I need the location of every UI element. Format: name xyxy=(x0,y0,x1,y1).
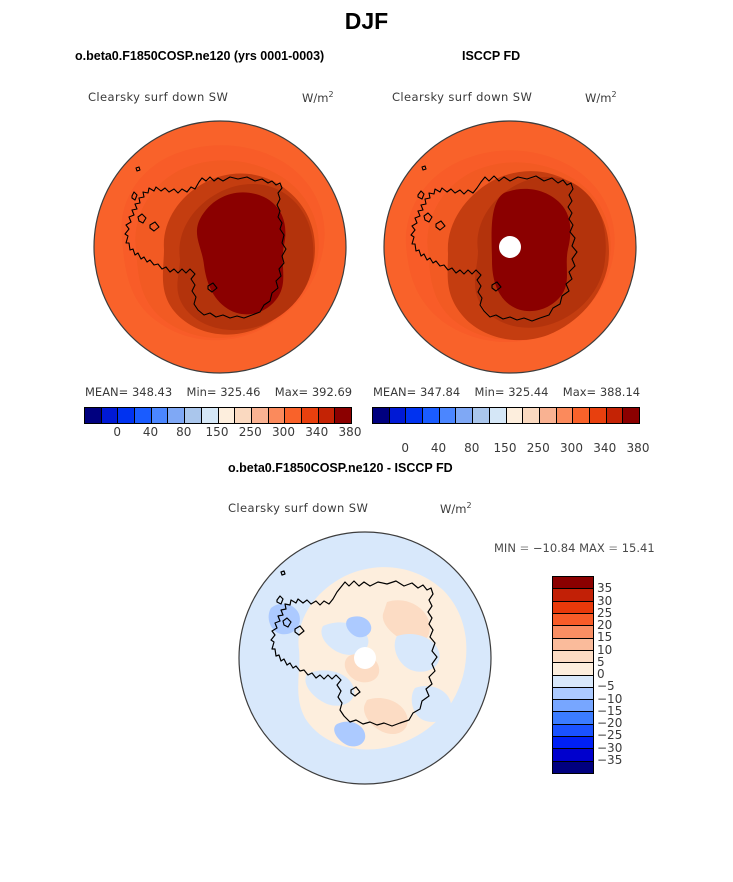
left-mean-label: MEAN= xyxy=(85,385,128,399)
diff-colorbar-band-2 xyxy=(553,602,593,614)
right-stats: MEAN= 347.84 Min= 325.44 Max= 388.14 xyxy=(373,385,640,399)
colorbar-band-1 xyxy=(102,408,119,423)
colorbar-tick-380: 380 xyxy=(339,425,362,439)
diff-colorbar-band-8 xyxy=(553,676,593,688)
diff-colorbar-band-13 xyxy=(553,737,593,749)
colorbar-tick-250: 250 xyxy=(239,425,262,439)
right-units-label: W/m2 xyxy=(585,90,617,105)
difference-units-label: W/m2 xyxy=(440,501,472,516)
diff-colorbar-band-4 xyxy=(553,626,593,638)
colorbar-band-3 xyxy=(423,408,440,423)
colorbar-tick-150: 150 xyxy=(494,441,517,455)
right-min-value: 325.44 xyxy=(508,385,548,399)
colorbar-band-8 xyxy=(507,408,524,423)
diff-colorbar-band-1 xyxy=(553,589,593,601)
colorbar-band-14 xyxy=(319,408,336,423)
diff-colorbar-band-14 xyxy=(553,749,593,761)
left-min-value: 325.46 xyxy=(220,385,260,399)
difference-min-label: MIN xyxy=(494,541,516,555)
page-title: DJF xyxy=(0,8,733,35)
colorbar-tick-40: 40 xyxy=(143,425,158,439)
map-plot-model[interactable] xyxy=(92,119,348,375)
observation-map-svg xyxy=(382,119,638,375)
colorbar-band-12 xyxy=(285,408,302,423)
right-min-label: Min= xyxy=(475,385,505,399)
difference-min-value: −10.84 xyxy=(533,541,576,555)
colorbar-tick-340: 340 xyxy=(305,425,328,439)
diff-colorbar-band-9 xyxy=(553,688,593,700)
map-plot-difference[interactable] xyxy=(237,530,493,786)
colorbar-tick-0: 0 xyxy=(113,425,121,439)
right-colorbar-ticks: 04080150250300340380 xyxy=(372,441,640,457)
difference-map-svg xyxy=(237,530,493,786)
colorbar-band-2 xyxy=(406,408,423,423)
difference-colorbar[interactable] xyxy=(552,576,594,774)
difference-max-equals: = xyxy=(608,541,618,555)
colorbar-band-6 xyxy=(473,408,490,423)
left-mean-value: 348.43 xyxy=(132,385,172,399)
right-field-label: Clearsky surf down SW xyxy=(392,90,532,104)
colorbar-band-10 xyxy=(252,408,269,423)
left-panel-title: o.beta0.F1850COSP.ne120 (yrs 0001-0003) xyxy=(75,49,324,63)
colorbar-tick-300: 300 xyxy=(272,425,295,439)
colorbar-band-12 xyxy=(573,408,590,423)
colorbar-tick-250: 250 xyxy=(527,441,550,455)
difference-panel-title: o.beta0.F1850COSP.ne120 - ISCCP FD xyxy=(228,461,453,475)
diff-colorbar-band-6 xyxy=(553,651,593,663)
right-units-exponent: 2 xyxy=(611,90,616,99)
colorbar-tick-80: 80 xyxy=(464,441,479,455)
diff-colorbar-band-10 xyxy=(553,700,593,712)
colorbar-tick-0: 0 xyxy=(401,441,409,455)
colorbar-band-11 xyxy=(269,408,286,423)
difference-units-exponent: 2 xyxy=(466,501,471,510)
diff-colorbar-band-15 xyxy=(553,762,593,773)
colorbar-band-7 xyxy=(490,408,507,423)
left-field-label: Clearsky surf down SW xyxy=(88,90,228,104)
colorbar-band-13 xyxy=(590,408,607,423)
difference-max-label: MAX xyxy=(579,541,605,555)
left-units-exponent: 2 xyxy=(328,90,333,99)
colorbar-band-15 xyxy=(335,408,351,423)
colorbar-band-14 xyxy=(607,408,624,423)
left-stats: MEAN= 348.43 Min= 325.46 Max= 392.69 xyxy=(85,385,352,399)
difference-min-equals: = xyxy=(520,541,530,555)
colorbar-band-11 xyxy=(557,408,574,423)
right-colorbar[interactable] xyxy=(372,407,640,424)
diff-colorbar-tick-neg35: −35 xyxy=(597,753,631,767)
colorbar-tick-40: 40 xyxy=(431,441,446,455)
diff-colorbar-band-3 xyxy=(553,614,593,626)
model-filled-contours xyxy=(94,121,346,373)
left-units-text: W/m xyxy=(302,91,328,105)
colorbar-band-0 xyxy=(85,408,102,423)
diff-colorbar-band-11 xyxy=(553,712,593,724)
right-max-value: 388.14 xyxy=(600,385,640,399)
difference-field-label: Clearsky surf down SW xyxy=(228,501,368,515)
diff-colorbar-band-5 xyxy=(553,639,593,651)
difference-minmax: MIN = −10.84 MAX = 15.41 xyxy=(494,541,655,555)
colorbar-band-10 xyxy=(540,408,557,423)
colorbar-tick-340: 340 xyxy=(593,441,616,455)
left-max-label: Max= xyxy=(275,385,308,399)
colorbar-band-15 xyxy=(623,408,639,423)
colorbar-tick-300: 300 xyxy=(560,441,583,455)
colorbar-tick-80: 80 xyxy=(176,425,191,439)
difference-units-text: W/m xyxy=(440,502,466,516)
right-mean-value: 347.84 xyxy=(420,385,460,399)
right-mean-label: MEAN= xyxy=(373,385,416,399)
right-panel-title: ISCCP FD xyxy=(462,49,520,63)
diff-colorbar-band-0 xyxy=(553,577,593,589)
colorbar-band-6 xyxy=(185,408,202,423)
pole-data-gap xyxy=(499,236,521,258)
colorbar-band-8 xyxy=(219,408,236,423)
diff-colorbar-band-12 xyxy=(553,725,593,737)
difference-max-value: 15.41 xyxy=(622,541,655,555)
map-plot-observation[interactable] xyxy=(382,119,638,375)
colorbar-band-4 xyxy=(440,408,457,423)
pole-data-gap xyxy=(354,647,376,669)
colorbar-band-0 xyxy=(373,408,390,423)
colorbar-band-9 xyxy=(523,408,540,423)
right-units-text: W/m xyxy=(585,91,611,105)
left-colorbar-ticks: 04080150250300340380 xyxy=(84,425,352,441)
colorbar-band-5 xyxy=(456,408,473,423)
difference-colorbar-ticks: 35302520151050−5−10−15−20−25−30−35 xyxy=(597,576,631,772)
colorbar-band-4 xyxy=(152,408,169,423)
left-min-label: Min= xyxy=(187,385,217,399)
right-max-label: Max= xyxy=(563,385,596,399)
left-units-label: W/m2 xyxy=(302,90,334,105)
colorbar-band-5 xyxy=(168,408,185,423)
colorbar-band-7 xyxy=(202,408,219,423)
colorbar-band-3 xyxy=(135,408,152,423)
diff-colorbar-band-7 xyxy=(553,663,593,675)
colorbar-band-2 xyxy=(118,408,135,423)
colorbar-band-9 xyxy=(235,408,252,423)
model-map-svg xyxy=(92,119,348,375)
colorbar-band-13 xyxy=(302,408,319,423)
colorbar-tick-380: 380 xyxy=(627,441,650,455)
colorbar-band-1 xyxy=(390,408,407,423)
left-colorbar[interactable] xyxy=(84,407,352,424)
colorbar-tick-150: 150 xyxy=(206,425,229,439)
left-max-value: 392.69 xyxy=(312,385,352,399)
